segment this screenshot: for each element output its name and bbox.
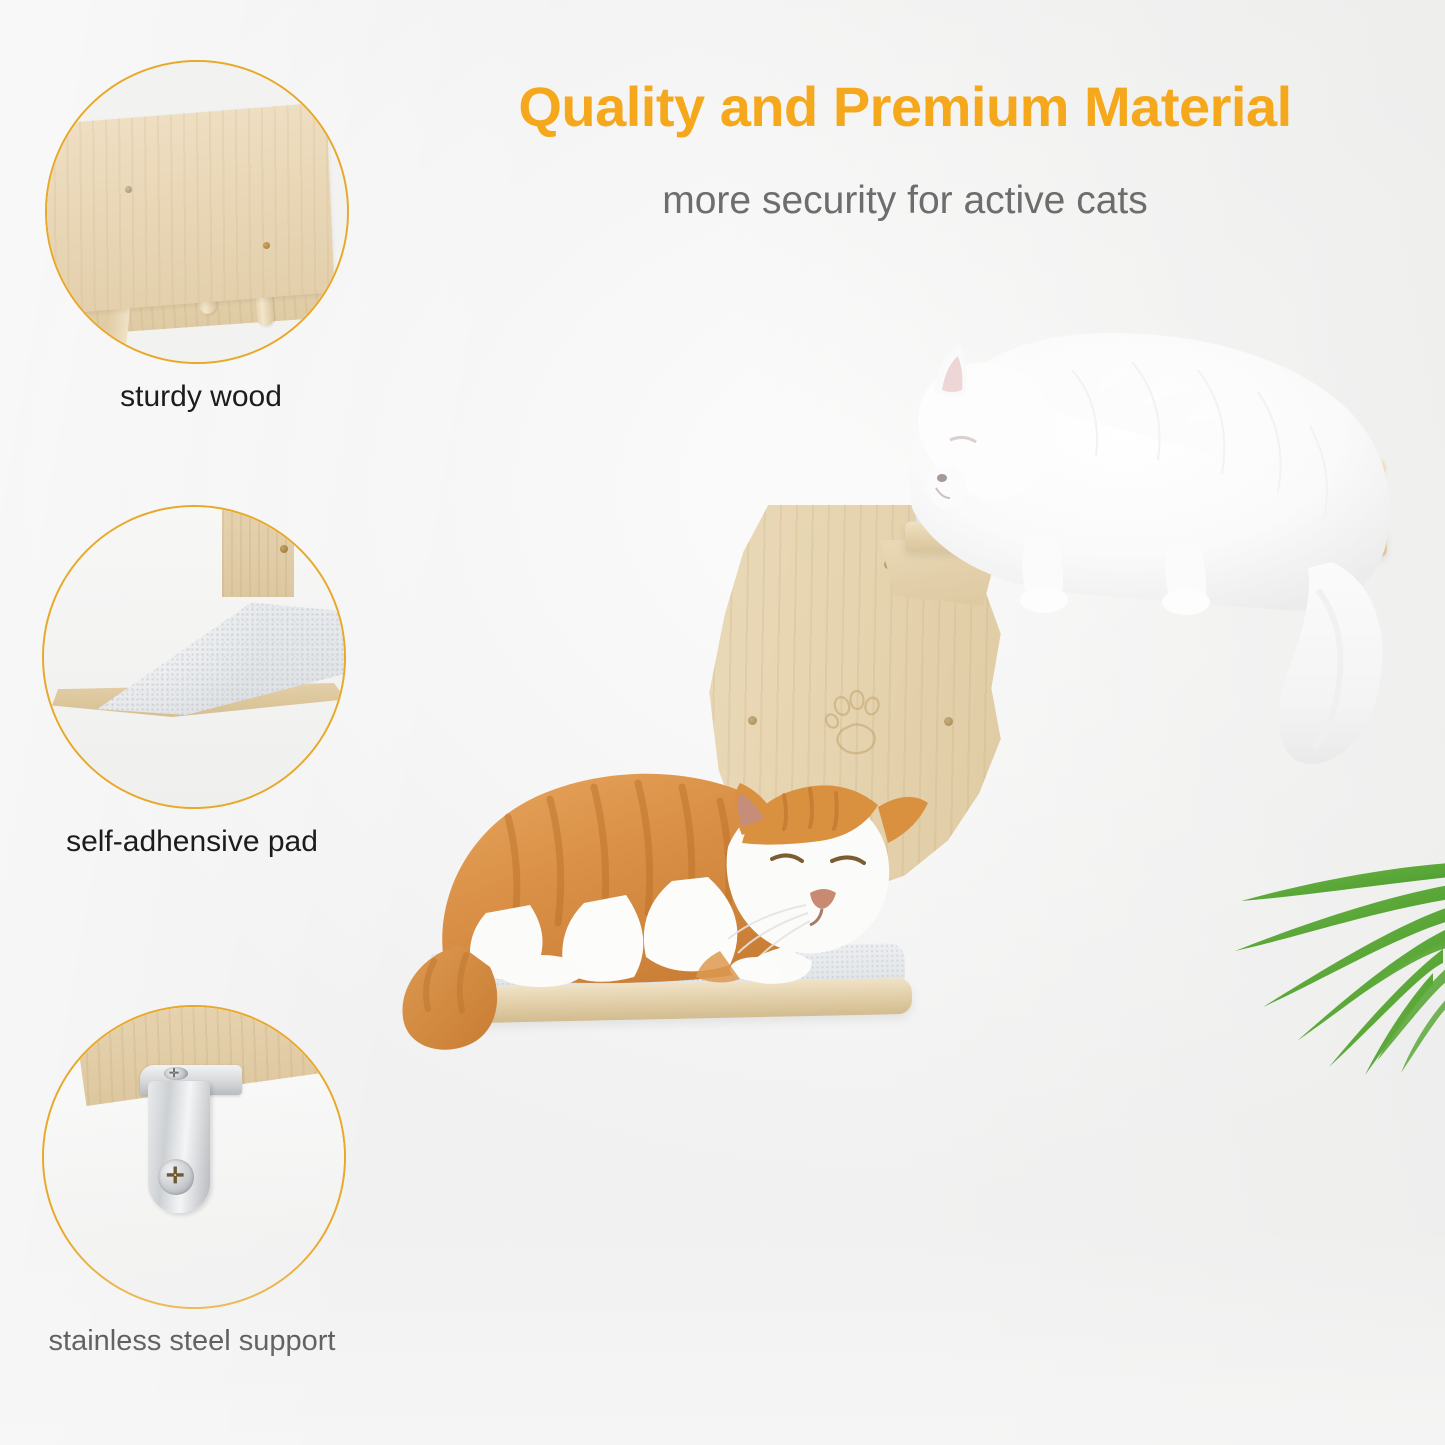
steel-bracket-closeup-icon: ✛ ✛ bbox=[44, 1007, 344, 1307]
feature-label-1: sturdy wood bbox=[45, 380, 345, 414]
felt-pad-closeup-icon bbox=[44, 507, 344, 807]
feature-circle-1 bbox=[45, 60, 349, 364]
wood-plank-closeup-icon bbox=[47, 62, 347, 362]
feature-circle-2 bbox=[42, 505, 346, 809]
orange-cat bbox=[390, 755, 950, 1055]
feature-circle-3: ✛ ✛ bbox=[42, 1005, 346, 1309]
page-title: Quality and Premium Material bbox=[400, 78, 1410, 137]
white-cat bbox=[812, 300, 1412, 770]
infographic-page: Quality and Premium Material more securi… bbox=[0, 0, 1445, 1445]
feature-sturdy-wood: sturdy wood bbox=[45, 60, 345, 414]
feature-self-adhensive-pad: self-adhensive pad bbox=[42, 505, 342, 859]
feature-label-2: self-adhensive pad bbox=[42, 825, 342, 859]
palm-frond-decor bbox=[1225, 845, 1445, 1080]
panel-screw bbox=[748, 716, 757, 725]
feature-label-3: stainless steel support bbox=[42, 1325, 342, 1358]
heading-block: Quality and Premium Material more securi… bbox=[400, 78, 1410, 223]
page-subtitle: more security for active cats bbox=[400, 179, 1410, 223]
feature-stainless-steel-support: ✛ ✛ stainless steel support bbox=[42, 1005, 342, 1358]
